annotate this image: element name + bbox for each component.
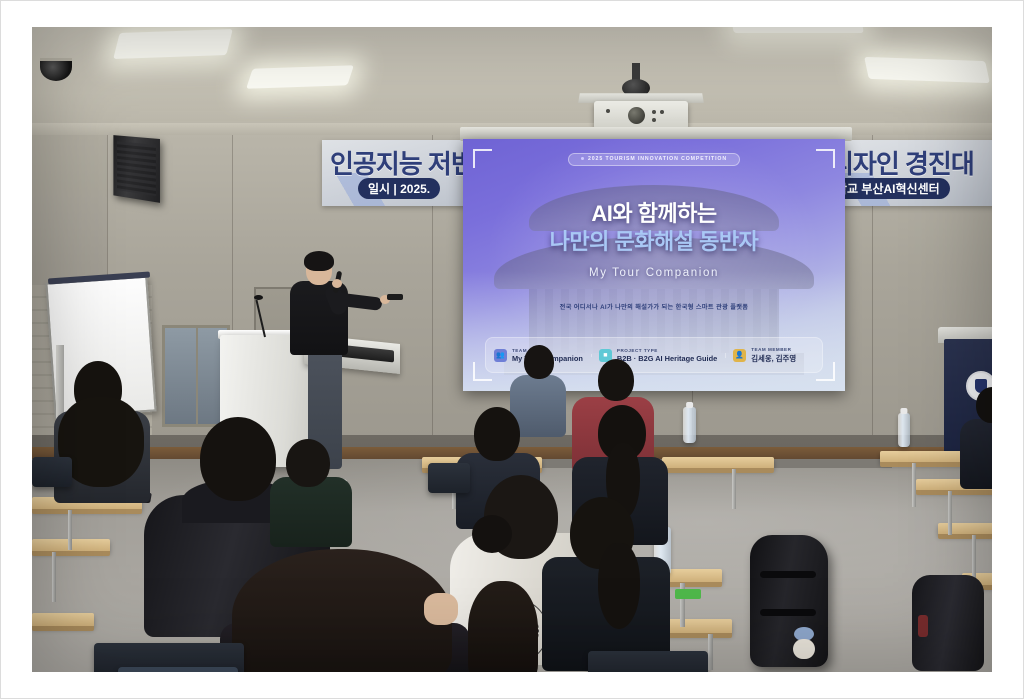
microphone-head-icon bbox=[254, 295, 263, 300]
badge-dot-icon bbox=[581, 157, 584, 160]
ponytail bbox=[598, 543, 640, 629]
water-bottle bbox=[683, 407, 696, 443]
info-card-team-member: 👤 TEAM MEMBER 김세웅, 김주영 bbox=[725, 347, 822, 364]
photograph: 인공지능 저변 일시 | 2025. 디자인 경진대 학교 부산AI혁신센터 2… bbox=[32, 27, 992, 672]
info-card-key: TEAM MEMBER bbox=[751, 347, 796, 352]
backpack-strap bbox=[760, 571, 816, 578]
info-card-value: B2B · B2G AI Heritage Guide bbox=[617, 354, 717, 363]
ceiling-projector bbox=[594, 101, 688, 129]
water-bottle bbox=[898, 413, 910, 447]
desk-leg bbox=[948, 491, 952, 535]
audience-head bbox=[286, 439, 330, 487]
projector-indicator bbox=[652, 118, 656, 122]
desk-leg bbox=[68, 510, 72, 550]
chair bbox=[428, 463, 470, 493]
long-hair bbox=[468, 581, 538, 672]
presentation-clicker bbox=[387, 294, 403, 300]
banner-right: 디자인 경진대 학교 부산AI혁신센터 bbox=[832, 140, 992, 206]
slide-title: AI와 함께하는 나만의 문화해설 동반자 bbox=[463, 201, 845, 255]
desk-leg bbox=[732, 469, 736, 509]
desk-leg bbox=[52, 552, 56, 602]
ceiling-light bbox=[730, 27, 864, 33]
slide-tagline: 전국 어디서나 AI가 나만의 해설가가 되는 한국형 스마트 관광 플랫폼 bbox=[463, 302, 845, 311]
desk-leg bbox=[912, 463, 916, 507]
backpack-strap bbox=[760, 609, 816, 616]
chair-seat bbox=[118, 667, 238, 672]
info-card-value: 김세웅, 김주영 bbox=[751, 353, 796, 364]
ceiling-light bbox=[246, 65, 354, 88]
plush-keychain bbox=[792, 627, 816, 659]
corner-bracket-icon bbox=[473, 149, 492, 168]
backpack-accent bbox=[918, 615, 928, 637]
wall-speaker-icon bbox=[113, 135, 160, 203]
banner-left-pill: 일시 | 2025. bbox=[358, 178, 440, 199]
desk bbox=[32, 613, 94, 627]
plush-body bbox=[793, 639, 815, 659]
projector-indicator bbox=[652, 110, 656, 114]
screen-haze bbox=[463, 271, 845, 391]
projector-indicator bbox=[606, 109, 610, 113]
corner-bracket-icon bbox=[816, 149, 835, 168]
hair-bun bbox=[472, 515, 512, 553]
slide-title-line2: 나만의 문화해설 동반자 bbox=[463, 229, 845, 255]
desk-leg bbox=[708, 634, 713, 670]
long-hair bbox=[232, 549, 452, 672]
backpack bbox=[750, 535, 828, 667]
ceiling-light bbox=[864, 57, 990, 83]
projector-indicator bbox=[660, 110, 664, 114]
people-icon: 👥 bbox=[494, 349, 507, 362]
hand bbox=[424, 593, 458, 625]
audience-head bbox=[200, 417, 276, 501]
projection-screen: 2025 TOURISM INNOVATION COMPETITION AI와 … bbox=[463, 139, 845, 391]
audience-head bbox=[474, 407, 520, 461]
audience-torso bbox=[270, 477, 352, 547]
presenter-hair bbox=[304, 251, 334, 271]
chair bbox=[32, 457, 72, 487]
slide-badge-text: 2025 TOURISM INNOVATION COMPETITION bbox=[588, 156, 727, 162]
second-backpack bbox=[912, 575, 984, 671]
desk bbox=[662, 457, 774, 469]
desk bbox=[938, 523, 992, 535]
presenter-hand bbox=[332, 279, 342, 288]
banner-right-pill: 학교 부산AI혁신센터 bbox=[832, 178, 950, 199]
info-card-key: PROJECT TYPE bbox=[617, 348, 717, 353]
slide-title-line1: AI와 함께하는 bbox=[463, 201, 845, 227]
audience-head bbox=[598, 359, 634, 401]
projector-lens-icon bbox=[628, 107, 645, 124]
security-camera-icon bbox=[40, 61, 72, 81]
person-icon: 👤 bbox=[733, 349, 746, 362]
photo-frame: 인공지능 저변 일시 | 2025. 디자인 경진대 학교 부산AI혁신센터 2… bbox=[0, 0, 1024, 699]
slide-subtitle: My Tour Companion bbox=[463, 267, 845, 279]
audience-head bbox=[524, 345, 554, 379]
slide-badge: 2025 TOURISM INNOVATION COMPETITION bbox=[568, 153, 740, 166]
ceiling-light bbox=[113, 29, 233, 59]
banner-right-title: 디자인 경진대 bbox=[832, 144, 974, 181]
banner-left-title: 인공지능 저변 bbox=[330, 144, 474, 181]
audience-torso bbox=[960, 419, 992, 489]
green-notebook bbox=[675, 589, 701, 599]
chair bbox=[588, 651, 708, 672]
